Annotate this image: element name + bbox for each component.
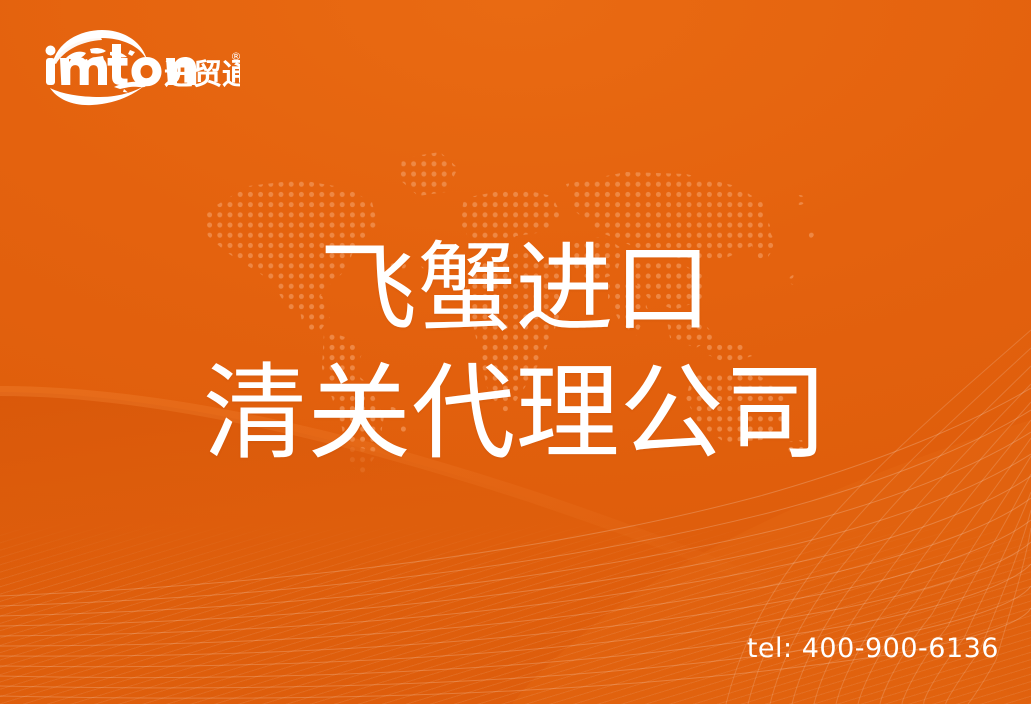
headline-line-2: 清关代理公司: [0, 352, 1031, 475]
diagonal-texture-decor: [0, 520, 1031, 704]
logo-chinese-name: 进贸通: [164, 57, 240, 91]
poster-canvas: 进贸通 ® 飞蟹进口 清关代理公司 tel: 400-900-6136: [0, 0, 1031, 704]
contact-phone[interactable]: tel: 400-900-6136: [747, 633, 999, 664]
registered-trademark-icon: ®: [231, 50, 241, 63]
page-title: 飞蟹进口 清关代理公司: [0, 232, 1031, 474]
brand-logo[interactable]: 进贸通 ®: [40, 28, 240, 106]
headline-line-1: 飞蟹进口: [0, 232, 1031, 348]
